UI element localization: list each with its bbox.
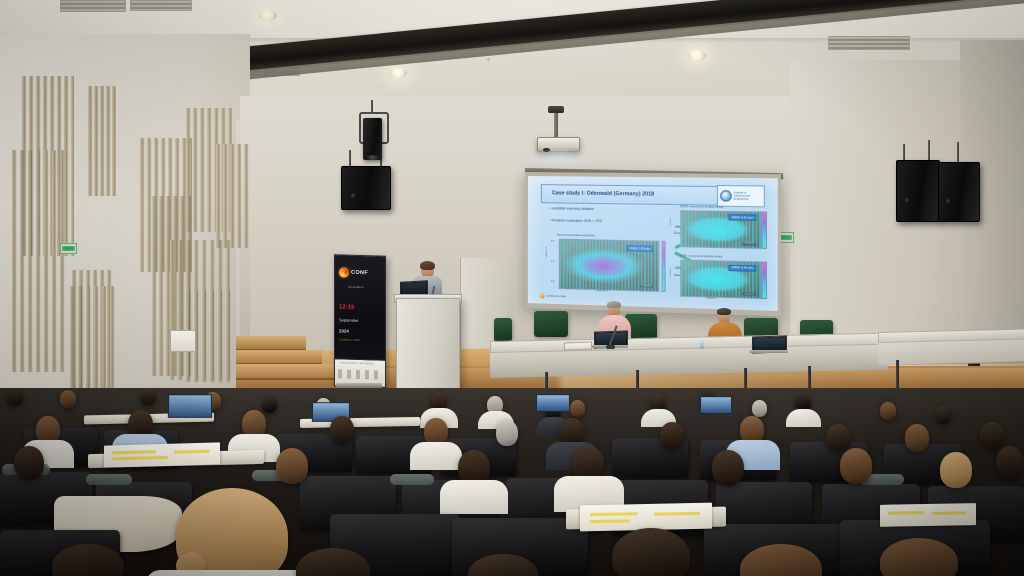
banner-logo-subtitle: Association (348, 286, 363, 289)
audience-shoulders (786, 409, 821, 427)
audience-head (935, 406, 951, 424)
exit-sign-left (60, 243, 77, 254)
banner-date: 12-15 (339, 305, 354, 311)
panel-top-colorbar (762, 211, 767, 249)
slide-bullet-1: Landslide inventory obtained (550, 207, 594, 212)
open-notebook (580, 503, 712, 532)
panel-main-subtag: Odenwald (640, 285, 653, 288)
panel-main-ytick: 49.7 (551, 260, 555, 262)
audience-head (276, 448, 308, 484)
slide-footer-text: conference-mark (546, 295, 565, 299)
audience-laptop (168, 394, 212, 418)
audience-head (980, 422, 1004, 450)
panel-main-ylabel: Latitude (°) (546, 248, 548, 258)
audience-head (6, 388, 23, 406)
panel-main-xtick: 9.0 (640, 290, 643, 292)
panel-bottom-colorbar (762, 261, 767, 299)
projection-screen: Case study I: Odenwald (Germany) 2018 In… (525, 172, 781, 316)
audience-area (0, 388, 1024, 576)
lecture-hall-photo: Case study I: Odenwald (Germany) 2018 In… (0, 0, 1024, 576)
panel-main-caption: Raw inferred landslide susceptibility (557, 233, 595, 237)
highlighted-line (888, 511, 924, 514)
audience-head (60, 390, 76, 408)
speaker-right-b (938, 162, 980, 222)
audience-head (880, 402, 896, 420)
stage-step (236, 364, 338, 380)
audience-head (712, 450, 744, 486)
ceiling-downlight (390, 68, 407, 78)
speaker-wire (928, 140, 930, 160)
panel-bottom-tag: RMSE: 0.44 m/px (729, 265, 757, 272)
panelist-right-hair (717, 308, 731, 315)
lectern (396, 298, 460, 392)
audience-head (496, 420, 518, 446)
table-leg (896, 360, 899, 388)
highlighted-line (590, 512, 638, 516)
panel-bottom-map: RMSE: 0.44 m/px Odenwald (680, 260, 761, 300)
highlighted-line (112, 456, 168, 460)
panel-bottom-xlabel: Longitude (°) (706, 297, 717, 299)
audience-head (262, 396, 277, 413)
ceiling-vent (828, 36, 910, 50)
panelist-right-laptop-base (750, 350, 788, 353)
projector-mount (548, 106, 564, 113)
foreground-audience-head (612, 528, 690, 576)
panel-bottom-subtag: Odenwald (743, 292, 756, 295)
panel-main-ytick: 49.5 (551, 281, 555, 283)
ceiling-downlight (688, 50, 706, 61)
stage-light-lens (366, 155, 379, 160)
audience-head (940, 452, 972, 488)
audience-head (660, 422, 684, 450)
slide-footer-logo: conference-mark (540, 293, 566, 299)
panel-top-caption: RMSE: reconstructed landslide density (680, 205, 723, 209)
panelist-left-hair (607, 301, 621, 308)
presenter-hair (420, 261, 435, 270)
panel-top-tag: RMSE: 0.31 m/px (729, 215, 757, 222)
slide-bullet-2: Prediction evaluation: SDR = TP/P (550, 218, 603, 223)
globe-icon (720, 190, 732, 202)
conference-mark-icon (540, 293, 545, 298)
ceiling-downlight (259, 10, 277, 21)
panel-main-xtick: 8.6 (567, 288, 570, 290)
panel-chair (494, 318, 512, 342)
audience-head (905, 424, 929, 452)
audience-head (752, 400, 767, 417)
panel-top-ylabel: Latitude (°) (670, 218, 672, 227)
audience-head (570, 400, 585, 417)
panel-water-bottle (700, 340, 704, 349)
audience-head (140, 388, 156, 405)
wall-notice-panel (170, 330, 196, 352)
banner-logo: CONF (339, 267, 368, 278)
banner-sponsor-logos (338, 370, 382, 380)
banner-year: 2024 (339, 328, 349, 333)
audience-head (330, 416, 354, 444)
audience-head (826, 424, 850, 452)
panel-nameplate (564, 342, 592, 351)
speaker-left (341, 166, 391, 210)
speaker-right-a (896, 160, 940, 222)
highlighted-line (654, 512, 700, 515)
audience-laptop (700, 396, 732, 414)
audience-laptop (536, 394, 570, 412)
highlighted-line (174, 450, 210, 454)
stage-step (236, 336, 306, 351)
audience-shoulders (440, 480, 508, 514)
audience-shoulders (410, 442, 462, 470)
panel-chair (534, 311, 568, 337)
audience-laptop-screen (700, 396, 732, 414)
ceiling-sprinkler (487, 58, 490, 61)
highlighted-line (932, 511, 966, 514)
banner-logo-text: CONF (351, 269, 368, 275)
stage-step (236, 350, 322, 365)
panel-microphone-base (606, 345, 615, 349)
presentation-slide: Case study I: Odenwald (Germany) 2018 In… (528, 176, 778, 311)
panel-main-colorbar (661, 241, 666, 293)
banner-logo-mark-icon (339, 267, 349, 277)
seat-armrest (390, 474, 434, 485)
panel-main-ytick: 49.9 (551, 240, 555, 242)
slide-logo-text: Institute ofGeotechnicalEngineering (734, 191, 750, 201)
banner-footer-text: ORGANIZERS & SPONSORS (340, 362, 374, 365)
panel-main-map: RMSE: 0.53 m/px Odenwald (559, 239, 659, 292)
highlighted-line (590, 519, 630, 522)
panel-bottom-ylabel: Latitude (°) (670, 267, 672, 276)
ceiling-vent (130, 0, 192, 11)
slide-institution-logo: Institute ofGeotechnicalEngineering (717, 185, 765, 207)
speaker-wire (957, 142, 959, 162)
audience-laptop-screen (536, 394, 570, 412)
projector-pole (554, 112, 558, 140)
audience-laptop-screen (168, 394, 212, 418)
audience-head (996, 446, 1024, 480)
banner-place: Conference Venue (339, 339, 361, 343)
audience-head (840, 448, 872, 484)
left-wall-shading (0, 34, 250, 414)
slide-title: Case study I: Odenwald (Germany) 2018 (547, 184, 731, 203)
panel-main-xtick: 8.8 (603, 289, 606, 291)
panel-top-map: RMSE: 0.31 m/px Odenwald (680, 210, 761, 249)
stage-light (363, 118, 382, 160)
highlighted-line (112, 450, 156, 454)
ceiling-vent (60, 0, 126, 12)
conference-banner: CONF Association 12-15 September 2024 Co… (334, 254, 386, 387)
seat-armrest (86, 474, 132, 485)
panel-top-subtag: Odenwald (743, 242, 756, 245)
panel-main-tag: RMSE: 0.53 m/px (627, 245, 654, 252)
open-notebook (880, 503, 976, 527)
open-notebook (104, 442, 220, 467)
audience-head (14, 446, 44, 480)
banner-month: September (339, 318, 359, 324)
